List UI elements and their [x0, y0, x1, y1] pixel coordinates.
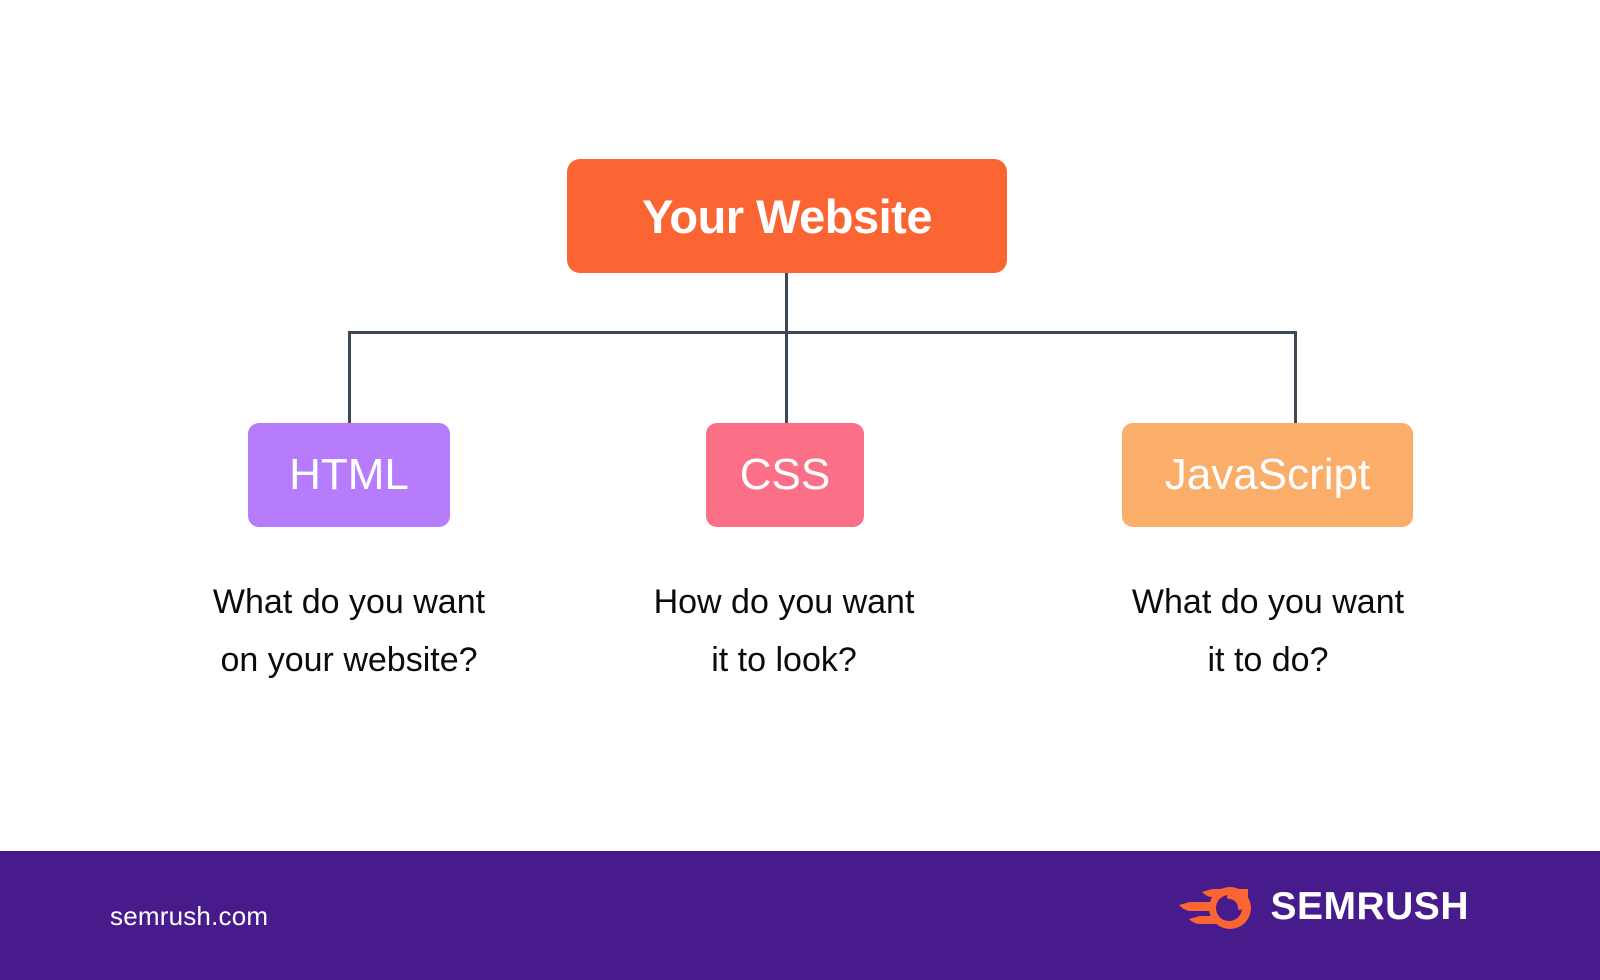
node-your-website: Your Website — [567, 159, 1007, 273]
node-javascript: JavaScript — [1122, 423, 1413, 527]
caption-html: What do you want on your website? — [149, 573, 549, 690]
semrush-wordmark: SEMRUSH — [1270, 887, 1469, 926]
caption-javascript: What do you want it to do? — [1073, 573, 1463, 690]
footer-url-text: semrush.com — [110, 901, 268, 932]
node-css: CSS — [706, 423, 864, 527]
caption-css: How do you want it to look? — [609, 573, 959, 690]
semrush-logo: SEMRUSH — [1176, 881, 1469, 931]
diagram-canvas: Your Website HTML CSS JavaScript What do… — [0, 0, 1600, 980]
node-html: HTML — [248, 423, 450, 527]
semrush-comet-icon — [1176, 881, 1254, 931]
footer-bar: semrush.com SEMRUSH — [0, 851, 1600, 980]
